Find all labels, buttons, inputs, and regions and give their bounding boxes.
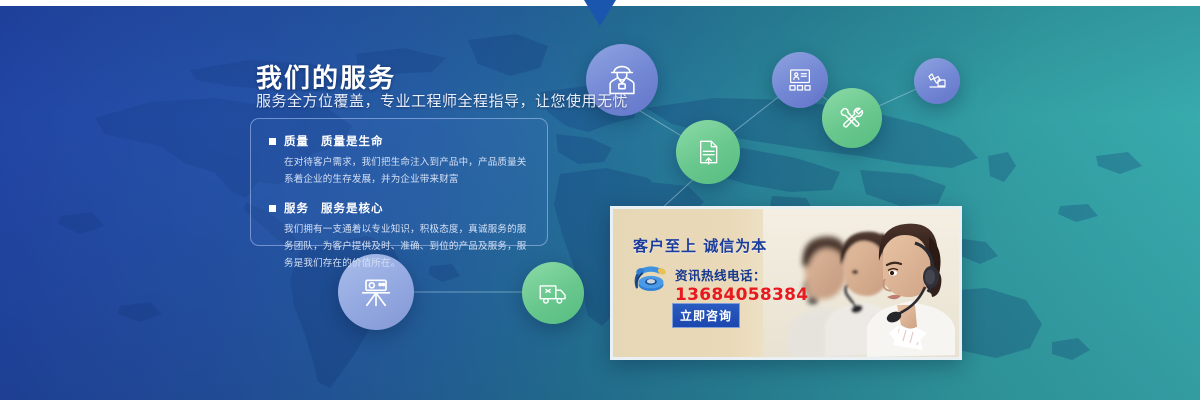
training-icon xyxy=(785,65,815,95)
info-item-tag: 服务 xyxy=(284,200,309,216)
square-bullet-icon xyxy=(269,205,276,212)
info-item-title: 质量是生命 xyxy=(321,133,384,149)
service-network-graphic xyxy=(0,0,1200,400)
telephone-icon xyxy=(631,261,671,299)
service-info-panel: 质量 质量是生命 在对待客户需求，我们把生命注入到产品中，产品质量关系着企业的生… xyxy=(250,118,548,246)
survey-icon xyxy=(356,272,396,312)
consult-now-button[interactable]: 立即咨询 xyxy=(672,303,740,328)
info-item-quality: 质量 质量是生命 在对待客户需求，我们把生命注入到产品中，产品质量关系着企业的生… xyxy=(269,133,529,188)
node-handover[interactable] xyxy=(914,58,960,104)
call-center-agents-photo xyxy=(763,209,959,357)
info-item-body: 在对待客户需求，我们把生命注入到产品中，产品质量关系着企业的生存发展，并为企业带… xyxy=(269,155,529,188)
promo-title: 客户至上 诚信为本 xyxy=(633,235,767,256)
node-document[interactable] xyxy=(676,120,740,184)
node-training[interactable] xyxy=(772,52,828,108)
info-item-tag: 质量 xyxy=(284,133,309,149)
hotline-phone-number: 13684058384 xyxy=(675,285,808,305)
info-item-heading: 服务 服务是核心 xyxy=(269,200,529,216)
node-delivery[interactable] xyxy=(522,262,584,324)
page-subtitle: 服务全方位覆盖，专业工程师全程指导，让您使用无忧 xyxy=(256,90,628,111)
hotline-label: 资讯热线电话： xyxy=(675,265,766,284)
info-item-body: 我们拥有一支通着以专业知识，积极态度，真诚服务的服务团队，为客户提供及时、准确、… xyxy=(269,222,529,272)
chevron-down-icon xyxy=(584,0,616,30)
service-banner: 我们的服务 服务全方位覆盖，专业工程师全程指导，让您使用无忧 质量 质量是生命 … xyxy=(0,0,1200,400)
document-icon xyxy=(692,136,724,168)
info-item-title: 服务是核心 xyxy=(321,200,384,216)
hotline-promo-card[interactable]: 客户至上 诚信为本 资讯热线电话： 13684058384 xyxy=(610,206,962,360)
delivery-icon xyxy=(536,276,570,310)
tools-icon xyxy=(836,102,868,134)
info-item-heading: 质量 质量是生命 xyxy=(269,133,529,149)
node-tools[interactable] xyxy=(822,88,882,148)
handover-icon xyxy=(925,69,949,93)
info-item-service: 服务 服务是核心 我们拥有一支通着以专业知识，积极态度，真诚服务的服务团队，为客… xyxy=(269,200,529,272)
square-bullet-icon xyxy=(269,138,276,145)
